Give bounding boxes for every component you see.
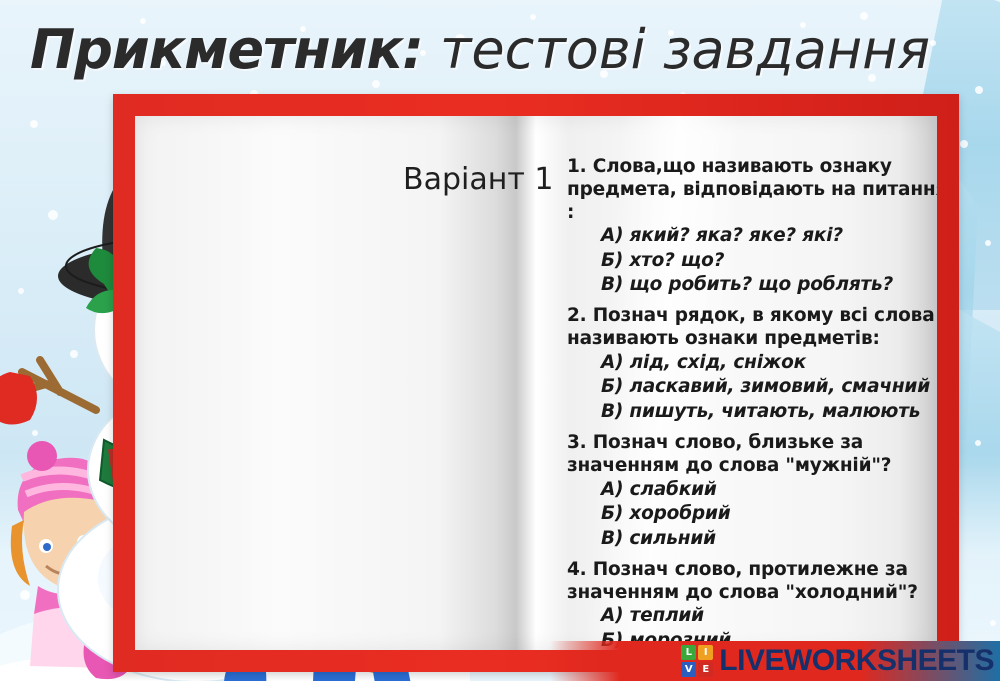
scene-stage: Прикметник: тестові завдання Варіант 1 1… — [0, 0, 1000, 681]
question-item: 4. Познач слово, протилежне за значенням… — [567, 559, 937, 650]
snowflake — [48, 210, 58, 220]
question-text: 3. Познач слово, близьке за значенням до… — [567, 432, 937, 478]
snowflake — [985, 240, 991, 246]
snowflake — [20, 590, 30, 600]
question-text: 2. Познач рядок, в якому всі слова назив… — [567, 305, 937, 351]
snowflake — [30, 120, 38, 128]
red-frame: Варіант 1 1. Слова,що називають ознаку п… — [113, 94, 959, 672]
worksheet-page: Варіант 1 1. Слова,що називають ознаку п… — [135, 116, 937, 650]
variant-heading: Варіант 1 — [403, 162, 553, 197]
snowflake — [975, 440, 981, 446]
snowflake — [18, 288, 24, 294]
snowflake — [32, 430, 38, 436]
question-item: 1. Слова,що називають ознаку предмета, в… — [567, 156, 937, 297]
answer-option[interactable]: В) сильний — [567, 527, 937, 551]
liveworksheets-brand-text: LIVEWORKSHEETS — [719, 644, 994, 678]
answer-option[interactable]: А) лід, схід, сніжок — [567, 351, 937, 375]
question-item: 3. Познач слово, близьке за значенням до… — [567, 432, 937, 551]
liveworksheets-watermark: LIVE LIVEWORKSHEETS — [0, 641, 1000, 681]
answer-option[interactable]: А) слабкий — [567, 478, 937, 502]
title-bold-part: Прикметник: — [30, 18, 423, 81]
page-title: Прикметник: тестові завдання — [30, 14, 990, 86]
answer-option[interactable]: А) який? яка? яке? які? — [567, 224, 937, 248]
question-item: 2. Познач рядок, в якому всі слова назив… — [567, 305, 937, 424]
answer-option[interactable]: Б) хто? що? — [567, 249, 937, 273]
answer-option[interactable]: Б) хоробрий — [567, 502, 937, 526]
title-light-part: тестові завдання — [423, 18, 930, 81]
snowflake — [975, 86, 983, 94]
answer-option[interactable]: А) теплий — [567, 604, 937, 628]
snowflake — [990, 620, 996, 626]
answer-option[interactable]: В) що робить? що роблять? — [567, 273, 937, 297]
questions-list: 1. Слова,що називають ознаку предмета, в… — [567, 156, 937, 650]
question-text: 1. Слова,що називають ознаку предмета, в… — [567, 156, 937, 224]
logo-letter-i: I — [698, 645, 713, 660]
answer-option[interactable]: Б) ласкавий, зимовий, смачний — [567, 375, 937, 399]
snowflake — [70, 350, 78, 358]
logo-letter-e: E — [698, 662, 713, 677]
logo-letter-l: L — [681, 645, 696, 660]
snowflake — [960, 140, 968, 148]
logo-letter-v: V — [681, 662, 696, 677]
question-text: 4. Познач слово, протилежне за значенням… — [567, 559, 937, 605]
answer-option[interactable]: В) пишуть, читають, малюють — [567, 400, 937, 424]
snowflake — [92, 500, 100, 508]
liveworksheets-logo-icon: LIVE — [681, 645, 713, 677]
